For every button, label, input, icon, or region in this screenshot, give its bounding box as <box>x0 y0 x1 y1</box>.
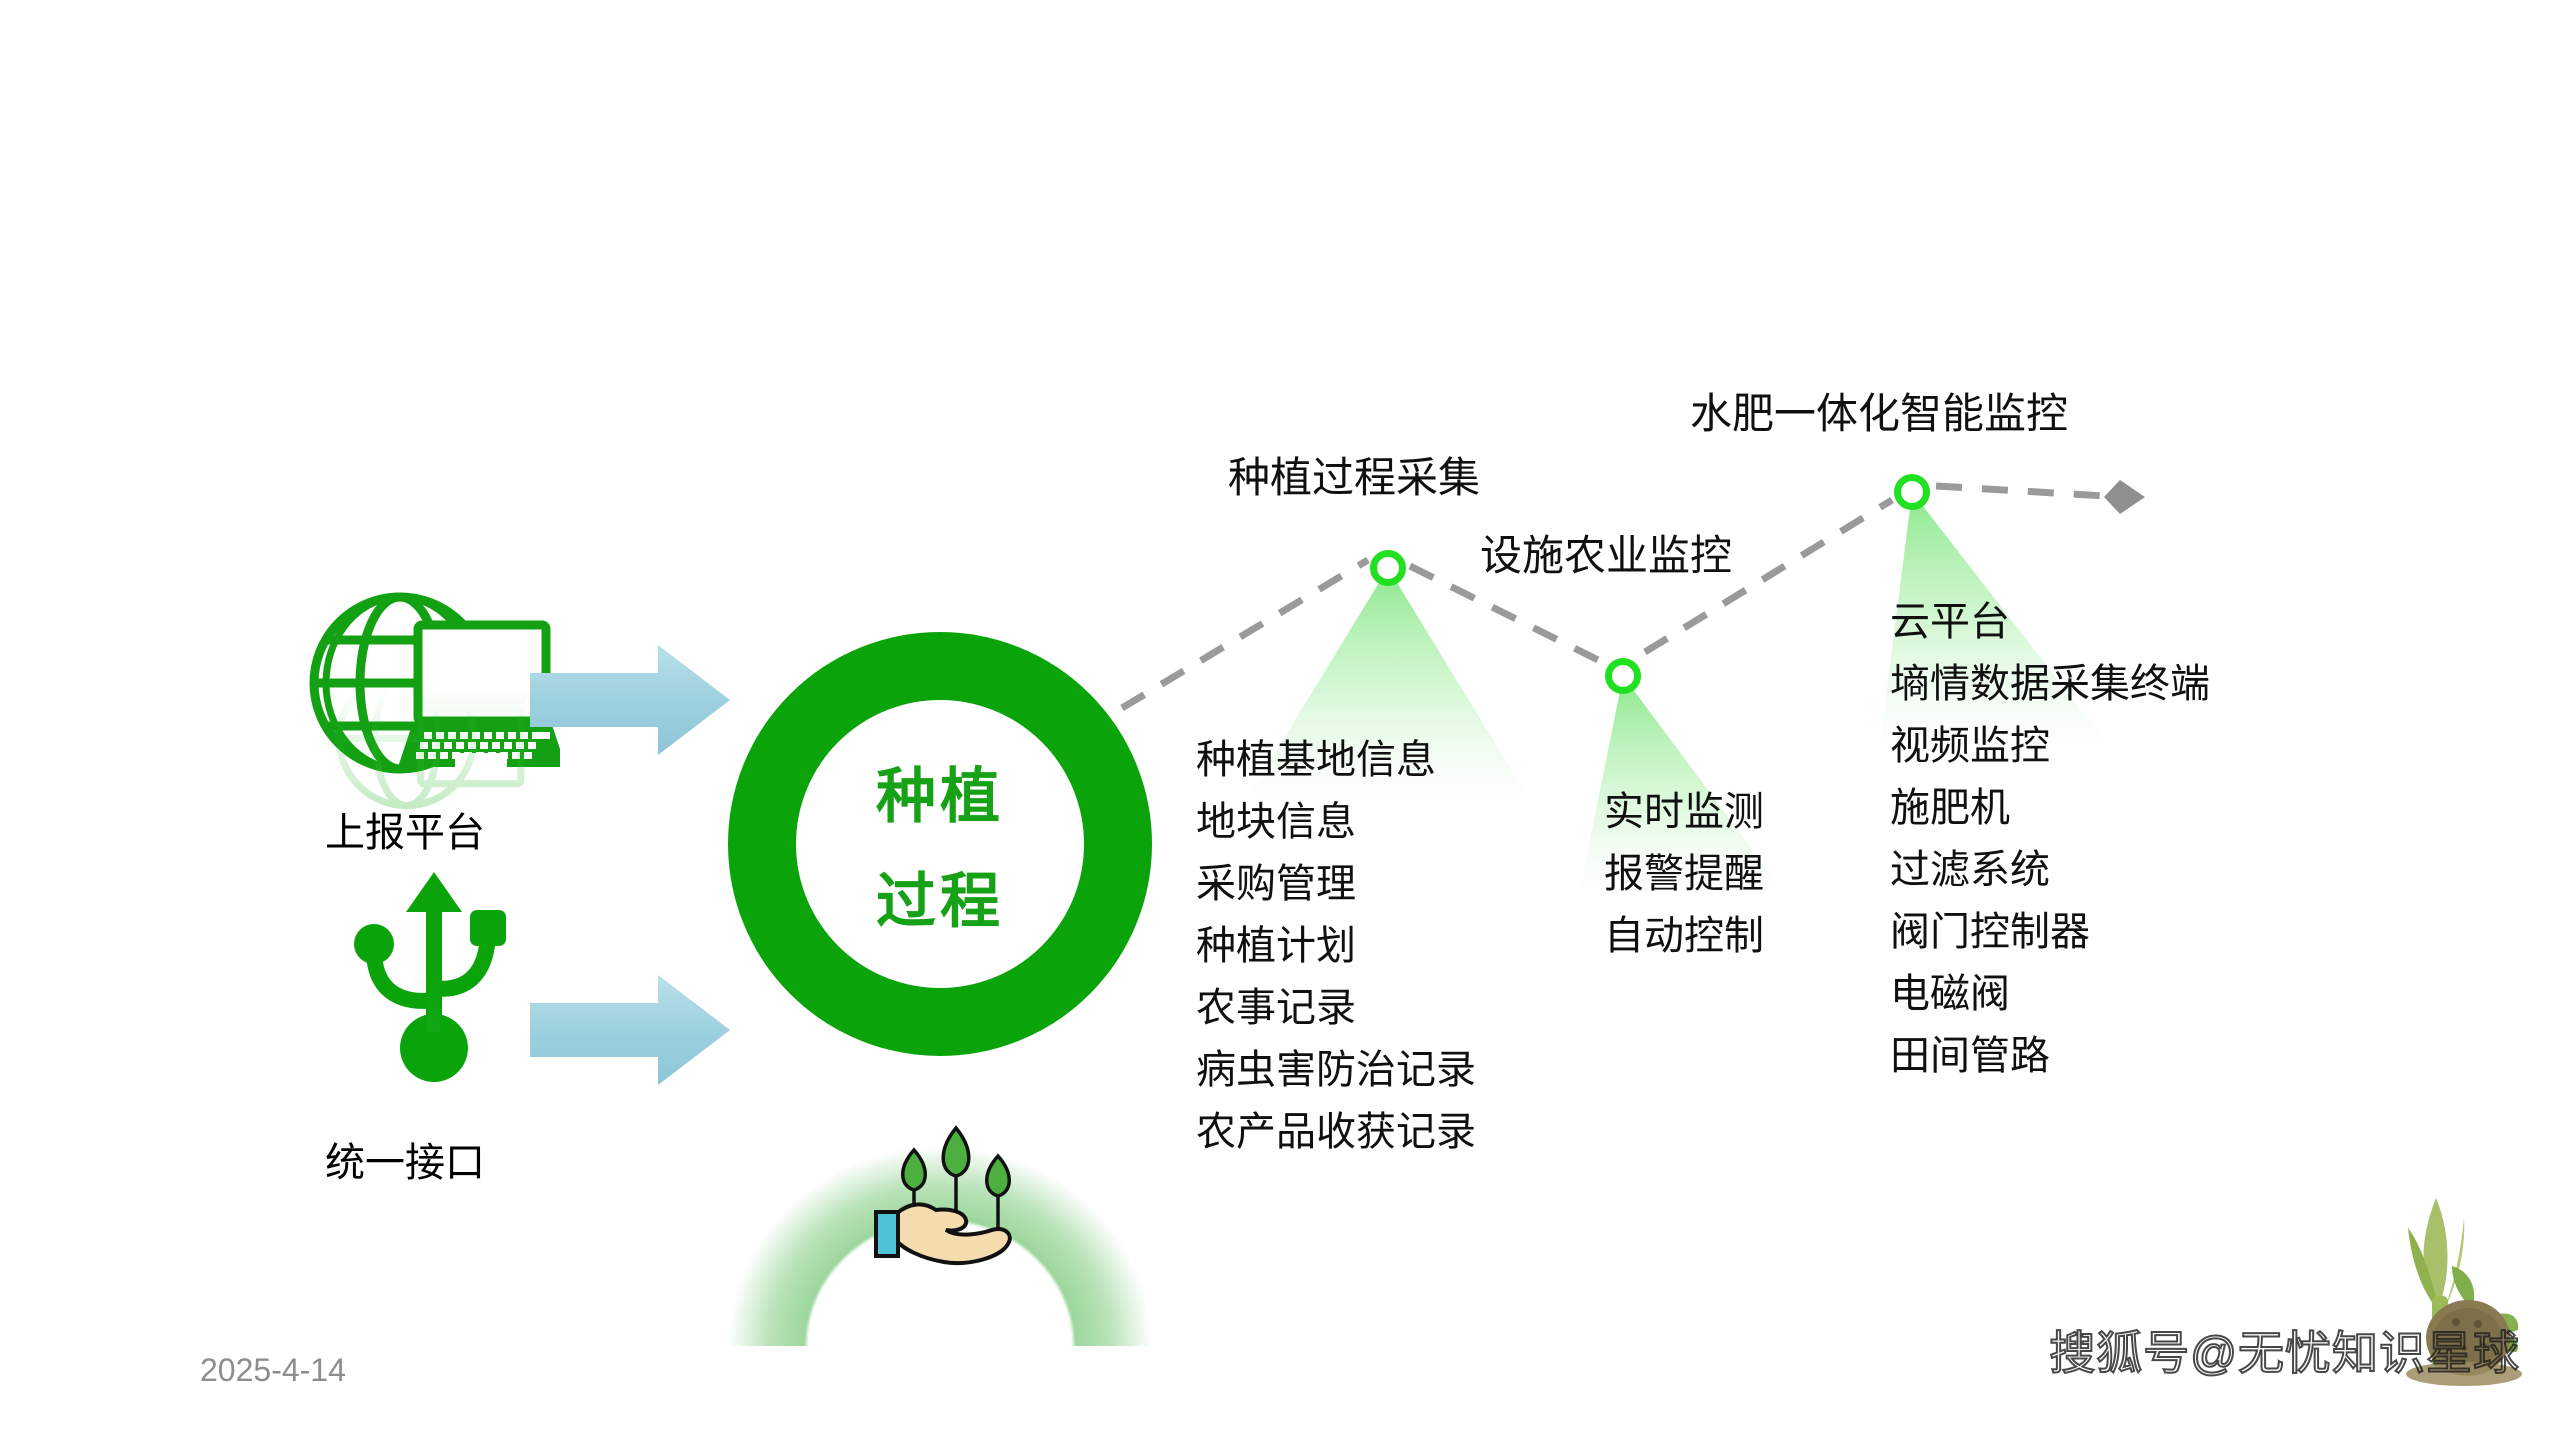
date-stamp: 2025-4-14 <box>200 1352 346 1389</box>
hub-label-line2: 过程 <box>876 853 1004 940</box>
list-item[interactable]: 过滤系统 <box>1890 850 2210 890</box>
list-item[interactable]: 报警提醒 <box>1604 854 1764 894</box>
slide-canvas: 上报平台 统一接口 <box>0 0 2560 1440</box>
list-item[interactable]: 地块信息 <box>1196 802 1476 842</box>
flow-arrow-bottom <box>530 975 730 1085</box>
source-label-0: 上报平台 <box>325 800 485 858</box>
list-item[interactable]: 种植基地信息 <box>1196 740 1476 780</box>
node-group-3[interactable] <box>1894 474 1930 510</box>
source-icon-usb <box>338 872 528 1102</box>
hand-holding-plants-icon <box>858 1110 1058 1270</box>
list-item[interactable]: 电磁阀 <box>1890 974 2210 1014</box>
list-item[interactable]: 种植计划 <box>1196 926 1476 966</box>
list-item[interactable]: 墒情数据采集终端 <box>1890 664 2210 704</box>
hub-ring[interactable]: 种植 过程 <box>728 632 1152 1056</box>
group-items-2: 云平台 墒情数据采集终端 视频监控 施肥机 过滤系统 阀门控制器 电磁阀 田间管… <box>1890 602 2210 1098</box>
group-title-1: 设施农业监控 <box>1480 522 1732 583</box>
list-item[interactable]: 实时监测 <box>1604 792 1764 832</box>
list-item[interactable]: 云平台 <box>1890 602 2210 642</box>
dashed-path-4 <box>1936 486 2122 497</box>
list-item[interactable]: 视频监控 <box>1890 726 2210 766</box>
group-title-2: 水肥一体化智能监控 <box>1690 380 2068 441</box>
list-item[interactable]: 农产品收获记录 <box>1196 1112 1476 1152</box>
list-item[interactable]: 施肥机 <box>1890 788 2210 828</box>
node-group-2[interactable] <box>1605 658 1641 694</box>
source-label-1: 统一接口 <box>325 1130 485 1188</box>
node-group-1[interactable] <box>1370 550 1406 586</box>
watermark: 搜狐号@无忧知识星球 <box>2049 1317 2520 1383</box>
hub-label-line1: 种植 <box>876 748 1004 835</box>
list-item[interactable]: 病虫害防治记录 <box>1196 1050 1476 1090</box>
hub-label: 种植 过程 <box>728 632 1152 1056</box>
dashed-path <box>1122 560 1368 708</box>
source-icon-globe-laptop <box>300 585 560 815</box>
flow-arrow-top <box>530 645 730 755</box>
list-item[interactable]: 田间管路 <box>1890 1036 2210 1076</box>
list-item[interactable]: 农事记录 <box>1196 988 1476 1028</box>
dashed-path-arrowhead <box>2104 480 2145 514</box>
group-title-0: 种植过程采集 <box>1228 444 1480 505</box>
usb-icon <box>354 872 506 1082</box>
list-item[interactable]: 阀门控制器 <box>1890 912 2210 952</box>
group-items-0: 种植基地信息 地块信息 采购管理 种植计划 农事记录 病虫害防治记录 农产品收获… <box>1196 740 1476 1174</box>
list-item[interactable]: 采购管理 <box>1196 864 1476 904</box>
group-items-1: 实时监测 报警提醒 自动控制 <box>1604 792 1764 978</box>
list-item[interactable]: 自动控制 <box>1604 916 1764 956</box>
